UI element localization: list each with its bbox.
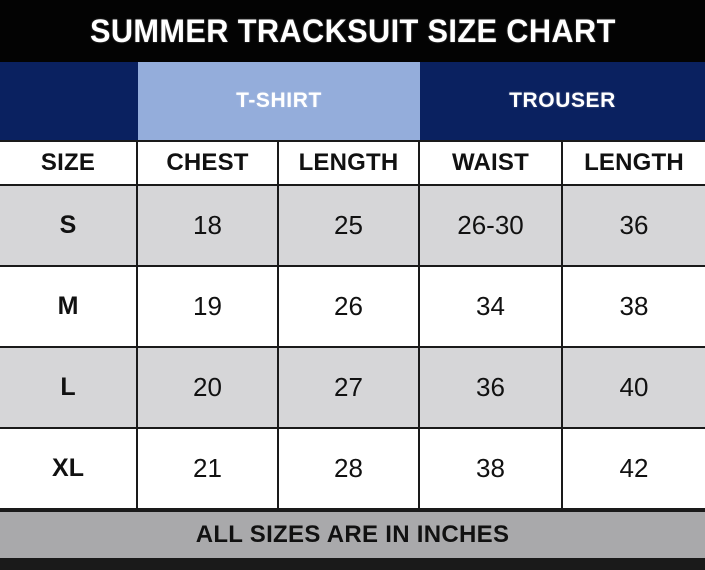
cell-tshirt-length: 28 xyxy=(279,429,420,508)
page-title: SUMMER TRACKSUIT SIZE CHART xyxy=(90,13,616,50)
cell-chest: 21 xyxy=(138,429,279,508)
cell-tshirt-length: 27 xyxy=(279,348,420,427)
table-row: XL 21 28 38 42 xyxy=(0,429,705,510)
category-cell-tshirt: T-SHIRT xyxy=(138,62,420,140)
table-row: M 19 26 34 38 xyxy=(0,267,705,348)
size-chart-root: SUMMER TRACKSUIT SIZE CHART T-SHIRT TROU… xyxy=(0,0,705,570)
units-note: ALL SIZES ARE IN INCHES xyxy=(196,521,510,549)
title-band: SUMMER TRACKSUIT SIZE CHART xyxy=(0,0,705,62)
cell-chest: 18 xyxy=(138,186,279,265)
column-header-chest: CHEST xyxy=(138,142,279,184)
column-header-size: SIZE xyxy=(0,142,138,184)
cell-size: L xyxy=(0,348,138,427)
cell-tshirt-length: 26 xyxy=(279,267,420,346)
column-header-waist: WAIST xyxy=(420,142,563,184)
cell-chest: 19 xyxy=(138,267,279,346)
category-band: T-SHIRT TROUSER xyxy=(0,62,705,140)
footer-band: ALL SIZES ARE IN INCHES xyxy=(0,510,705,558)
column-header-trouser-length: LENGTH xyxy=(563,142,705,184)
cell-waist: 38 xyxy=(420,429,563,508)
column-header-tshirt-length: LENGTH xyxy=(279,142,420,184)
cell-trouser-length: 38 xyxy=(563,267,705,346)
category-cell-blank xyxy=(0,62,138,140)
cell-size: M xyxy=(0,267,138,346)
bottom-rule xyxy=(0,558,705,570)
size-table: SIZE CHEST LENGTH WAIST LENGTH S 18 25 2… xyxy=(0,140,705,510)
category-cell-trouser: TROUSER xyxy=(420,62,705,140)
table-row: L 20 27 36 40 xyxy=(0,348,705,429)
cell-trouser-length: 42 xyxy=(563,429,705,508)
cell-waist: 36 xyxy=(420,348,563,427)
cell-tshirt-length: 25 xyxy=(279,186,420,265)
cell-trouser-length: 36 xyxy=(563,186,705,265)
cell-trouser-length: 40 xyxy=(563,348,705,427)
cell-chest: 20 xyxy=(138,348,279,427)
cell-waist: 26-30 xyxy=(420,186,563,265)
cell-size: S xyxy=(0,186,138,265)
table-row: S 18 25 26-30 36 xyxy=(0,186,705,267)
cell-size: XL xyxy=(0,429,138,508)
cell-waist: 34 xyxy=(420,267,563,346)
table-header-row: SIZE CHEST LENGTH WAIST LENGTH xyxy=(0,142,705,186)
